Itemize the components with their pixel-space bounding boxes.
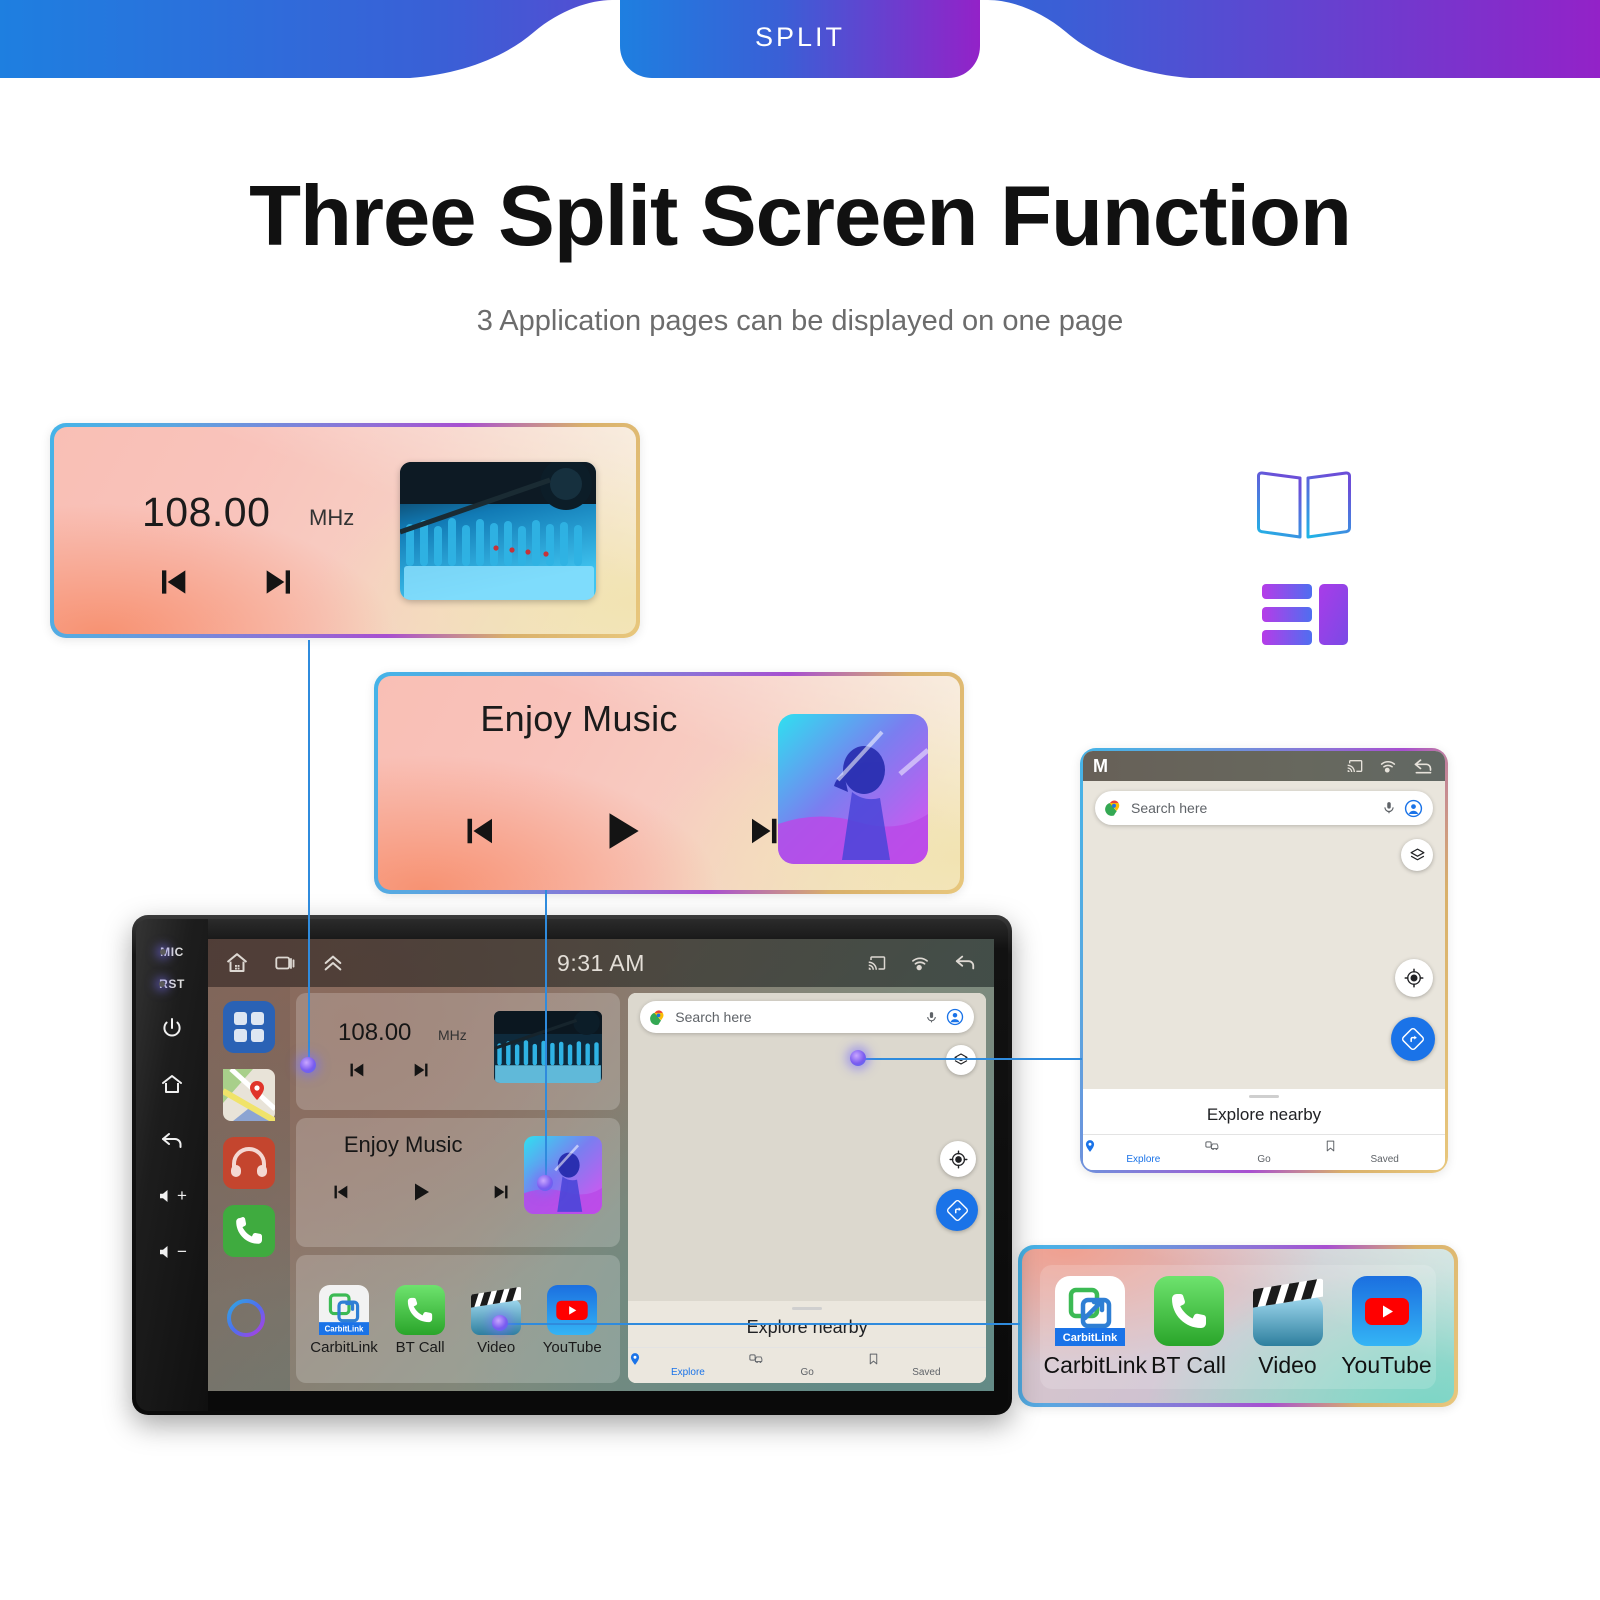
map-callout-card: M (1080, 748, 1448, 1173)
app-label-youtube: YouTube (1341, 1352, 1433, 1379)
map-bottom-nav: Explore Go (628, 1347, 986, 1383)
volume-down-button[interactable]: − (136, 1225, 208, 1279)
radio-frequency: 108.00 (142, 489, 270, 536)
app-tile-video[interactable]: Video (1242, 1276, 1334, 1379)
carbitlink-icon: CarbitLink (319, 1285, 369, 1335)
volume-icon (157, 1187, 175, 1205)
maps-panel: M (1083, 751, 1445, 1170)
pane-radio-unit: MHz (438, 1027, 467, 1043)
connector-dot-music (537, 1175, 553, 1191)
app-label-bt-call: BT Call (385, 1339, 455, 1356)
assistant-ring-glyph (223, 1295, 269, 1341)
mixing-console-thumbnail (494, 1011, 602, 1083)
music-transport-controls (456, 806, 788, 856)
map-canvas[interactable]: Search here (1083, 781, 1445, 1089)
pane-radio-frequency: 108.00 (338, 1019, 411, 1047)
nav-item-saved[interactable]: Saved (1324, 1139, 1445, 1165)
map-layers-button[interactable] (946, 1045, 976, 1075)
connector-dot-radio (300, 1057, 316, 1073)
map-my-location-button[interactable] (940, 1141, 976, 1177)
carbitlink-icon: CarbitLink (1055, 1276, 1125, 1346)
split-banner: SPLIT (0, 0, 1600, 90)
screen-dock (208, 987, 290, 1391)
place-pin-icon (1083, 1139, 1097, 1153)
connector-dot-apps (492, 1315, 508, 1331)
google-maps-pin-icon (650, 1009, 667, 1026)
power-button[interactable] (136, 1001, 208, 1055)
carbitlink-glyph: CarbitLink (1055, 1276, 1125, 1346)
all-apps-glyph (223, 1001, 275, 1053)
map-canvas[interactable]: Search here (628, 993, 986, 1301)
phone-glyph (223, 1205, 275, 1257)
map-bottom-sheet: Explore nearby Explore (628, 1301, 986, 1383)
home-icon (159, 1072, 185, 1096)
youtube-icon (1352, 1276, 1422, 1346)
commute-icon (748, 1352, 764, 1366)
back-button[interactable] (136, 1113, 208, 1167)
nav-label-explore: Explore (1083, 1154, 1204, 1165)
skip-previous-icon[interactable] (344, 1059, 368, 1081)
apps-callout-row: CarbitLink CarbitLink BT Ca (1040, 1265, 1436, 1389)
back-arrow-icon (159, 1128, 185, 1152)
nav-label-explore: Explore (628, 1367, 747, 1378)
music-headphones-icon[interactable] (223, 1137, 275, 1189)
explore-nearby-label[interactable]: Explore nearby (628, 1310, 986, 1347)
back-arrow-icon[interactable] (952, 952, 978, 974)
cast-icon[interactable] (866, 954, 888, 972)
place-pin-icon (628, 1352, 642, 1366)
book-split-outline-icon (1256, 470, 1352, 540)
mic-indicator: MIC (160, 937, 184, 967)
radio-thumbnail (400, 462, 596, 600)
app-tile-youtube[interactable]: YouTube (537, 1285, 607, 1356)
phone-icon[interactable] (223, 1205, 275, 1257)
microphone-icon[interactable] (925, 1010, 938, 1025)
map-search-placeholder: Search here (675, 1009, 917, 1025)
skip-previous-icon[interactable] (328, 1181, 352, 1203)
volume-icon (157, 1243, 175, 1261)
singer-album-art (778, 714, 928, 864)
map-bottom-nav: Explore Go (1083, 1134, 1445, 1170)
radio-frequency-unit: MHz (309, 505, 354, 531)
nav-item-explore[interactable]: Explore (1083, 1139, 1204, 1165)
app-label-video: Video (461, 1339, 531, 1356)
maps-glyph (223, 1069, 275, 1121)
back-arrow-icon[interactable] (1411, 756, 1435, 776)
volume-up-symbol: + (177, 1186, 187, 1206)
map-directions-button[interactable] (936, 1189, 978, 1231)
wifi-touch-icon[interactable] (1377, 757, 1399, 775)
pane-radio-thumbnail (494, 1011, 602, 1083)
radio-transport-controls (150, 562, 302, 602)
account-circle-icon[interactable] (1404, 799, 1423, 818)
map-bottom-sheet: Explore nearby Explore (1083, 1089, 1445, 1170)
page-subtitle: 3 Application pages can be displayed on … (0, 305, 1600, 338)
pane-apps[interactable]: CarbitLink CarbitLink (296, 1255, 620, 1383)
directions-icon (947, 1200, 968, 1221)
layers-icon (1409, 847, 1426, 864)
nav-item-go[interactable]: Go (748, 1352, 867, 1378)
skip-next-icon[interactable] (410, 1059, 434, 1081)
device-bezel: MIC RST (136, 919, 208, 1411)
nav-label-saved: Saved (1324, 1154, 1445, 1165)
youtube-glyph (1352, 1276, 1422, 1346)
music-album-art (778, 714, 928, 864)
assistant-ring-icon[interactable] (223, 1295, 275, 1347)
mixing-console-thumbnail (400, 462, 596, 600)
skip-next-icon[interactable] (490, 1181, 514, 1203)
commute-icon (1204, 1139, 1220, 1153)
app-tile-carbitlink[interactable]: CarbitLink CarbitLink (309, 1285, 379, 1356)
wifi-touch-icon[interactable] (908, 953, 932, 973)
all-apps-icon[interactable] (223, 1001, 275, 1053)
phone-glyph (395, 1285, 445, 1335)
phone-icon (1154, 1276, 1224, 1346)
app-label-youtube: YouTube (537, 1339, 607, 1356)
three-pane-split-layout-icon (1262, 584, 1348, 646)
app-label-carbitlink: CarbitLink (1044, 1352, 1136, 1379)
car-head-unit-device: MIC RST (132, 915, 1012, 1415)
map-search-bar[interactable]: Search here (640, 1001, 974, 1033)
maps-icon[interactable] (223, 1069, 275, 1121)
my-location-icon (949, 1150, 968, 1169)
connector-dot-map (850, 1050, 866, 1066)
play-icon[interactable] (596, 806, 648, 856)
app-label-video: Video (1242, 1352, 1334, 1379)
nav-label-go: Go (1204, 1154, 1325, 1165)
map-my-location-button[interactable] (1395, 959, 1433, 997)
headphones-glyph (223, 1137, 275, 1189)
skip-previous-icon[interactable] (456, 810, 500, 852)
singer-album-art (524, 1136, 602, 1214)
play-icon[interactable] (408, 1180, 434, 1204)
maps-topbar: M (1083, 751, 1445, 781)
my-location-icon (1404, 968, 1424, 988)
power-icon (160, 1016, 184, 1040)
svg-text:CarbitLink: CarbitLink (325, 1325, 364, 1334)
bookmark-icon (867, 1352, 880, 1366)
google-maps-pin-icon (1105, 799, 1123, 817)
skip-previous-icon[interactable] (150, 562, 194, 602)
map-directions-button[interactable] (1391, 1017, 1435, 1061)
app-tile-bt-call[interactable]: BT Call (1143, 1276, 1235, 1379)
reset-indicator: RST (159, 969, 185, 999)
clapperboard-icon (1253, 1276, 1323, 1346)
bookmark-icon (1324, 1139, 1337, 1153)
app-tile-bt-call[interactable]: BT Call (385, 1285, 455, 1356)
cast-icon[interactable] (1345, 758, 1365, 774)
directions-icon (1402, 1028, 1424, 1050)
volume-down-symbol: − (177, 1242, 187, 1262)
banner-label: SPLIT (0, 22, 1600, 53)
layers-icon (953, 1052, 969, 1068)
split-mode-icons (1256, 470, 1352, 646)
maps-app-letter: M (1093, 756, 1108, 777)
phone-icon (395, 1285, 445, 1335)
split-screen-panes: 108.00 MHz (290, 987, 994, 1391)
skip-next-icon[interactable] (258, 562, 302, 602)
app-tile-carbitlink[interactable]: CarbitLink CarbitLink (1044, 1276, 1136, 1379)
app-label-bt-call: BT Call (1143, 1352, 1235, 1379)
nav-item-saved[interactable]: Saved (867, 1352, 986, 1378)
music-callout-card: Enjoy Music (374, 672, 964, 894)
app-tile-youtube[interactable]: YouTube (1341, 1276, 1433, 1379)
connector-apps (500, 1323, 1020, 1325)
nav-label-go: Go (748, 1367, 867, 1378)
explore-nearby-label[interactable]: Explore nearby (1083, 1098, 1445, 1134)
nav-item-go[interactable]: Go (1204, 1139, 1325, 1165)
pane-music-controls (328, 1180, 514, 1204)
pane-apps-row: CarbitLink CarbitLink (306, 1267, 610, 1375)
microphone-icon[interactable] (1382, 800, 1396, 816)
clapperboard-glyph (1253, 1276, 1323, 1346)
youtube-icon (547, 1285, 597, 1335)
nav-item-explore[interactable]: Explore (628, 1352, 747, 1378)
apps-callout-card: CarbitLink CarbitLink BT Ca (1018, 1245, 1458, 1407)
connector-radio (308, 640, 310, 1065)
map-layers-button[interactable] (1401, 839, 1433, 871)
svg-text:CarbitLink: CarbitLink (1062, 1332, 1117, 1344)
youtube-glyph (547, 1285, 597, 1335)
nav-label-saved: Saved (867, 1367, 986, 1378)
home-button[interactable] (136, 1057, 208, 1111)
map-search-bar[interactable]: Search here (1095, 791, 1433, 825)
volume-up-button[interactable]: + (136, 1169, 208, 1223)
pane-music[interactable]: Enjoy Music (296, 1118, 620, 1247)
pane-radio[interactable]: 108.00 MHz (296, 993, 620, 1110)
radio-callout-card: 108.00 MHz (50, 423, 640, 638)
map-search-placeholder: Search here (1131, 800, 1374, 816)
connector-map (858, 1058, 1082, 1060)
pane-radio-controls (344, 1059, 434, 1081)
page-title: Three Split Screen Function (0, 168, 1600, 266)
account-circle-icon[interactable] (946, 1008, 964, 1026)
connector-music (545, 890, 547, 1183)
app-label-carbitlink: CarbitLink (309, 1339, 379, 1356)
carbitlink-glyph: CarbitLink (319, 1285, 369, 1335)
pane-music-album-art (524, 1136, 602, 1214)
screen-statusbar: 9:31 AM (208, 939, 994, 987)
phone-glyph (1154, 1276, 1224, 1346)
